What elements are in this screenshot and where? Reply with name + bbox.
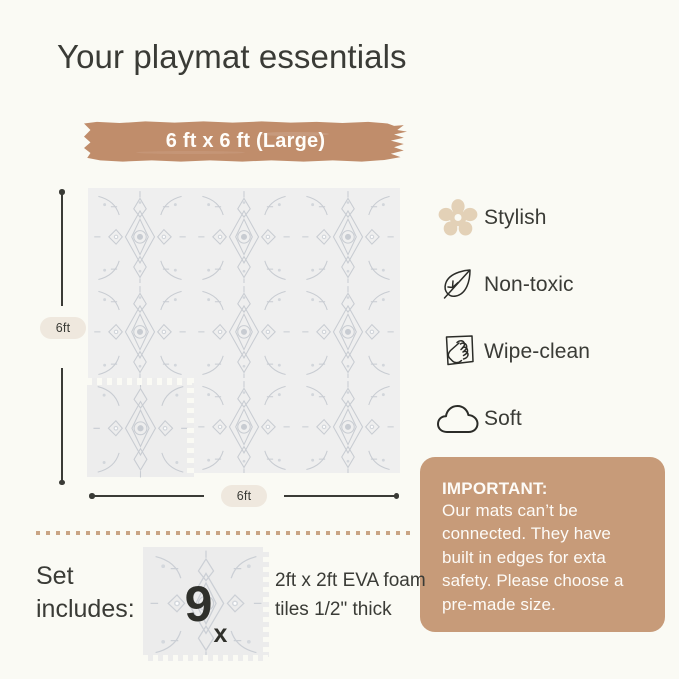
dimension-line-segment — [61, 192, 63, 306]
tile-quantity-number: 9 — [185, 579, 213, 629]
set-includes-tile-sample: 9 x — [143, 547, 269, 661]
playmat-tile — [192, 378, 296, 473]
tile-quantity-suffix: x — [213, 620, 227, 649]
playmat-tile — [296, 188, 400, 283]
set-includes-description: 2ft x 2ft EVA foam tiles 1/2" thick — [275, 566, 455, 625]
playmat-tile — [192, 283, 296, 378]
tile-pattern-icon — [87, 378, 194, 480]
tile-pattern-icon — [88, 283, 192, 378]
feature-label: Wipe-clean — [484, 340, 590, 364]
flower-icon — [432, 198, 484, 238]
playmat-tile — [296, 283, 400, 378]
playmat-tile — [296, 378, 400, 473]
tile-pattern-icon — [296, 188, 400, 283]
set-includes-label: Set includes: — [36, 560, 146, 626]
playmat-tile — [88, 188, 192, 283]
leaf-icon — [432, 265, 484, 305]
feature-list: Stylish Non-toxic Wipe-clean Soft — [432, 184, 672, 452]
horizontal-dimension-label: 6ft — [221, 485, 267, 507]
tile-pattern-icon — [296, 378, 400, 473]
dashed-divider — [36, 531, 410, 535]
tile-pattern-icon — [192, 283, 296, 378]
dimension-line-segment — [61, 368, 63, 482]
playmat-infographic: Your playmat essentials 6 ft x 6 ft (Lar… — [0, 0, 679, 679]
size-banner: 6 ft x 6 ft (Large) — [84, 121, 407, 162]
puzzle-teeth-top — [87, 378, 194, 385]
feature-label: Soft — [484, 407, 522, 431]
feature-item-stylish: Stylish — [432, 184, 672, 251]
size-banner-label: 6 ft x 6 ft (Large) — [84, 121, 407, 162]
tile-pattern-icon — [192, 188, 296, 283]
tile-quantity-overlay: 9 x — [143, 547, 269, 661]
dimension-line-segment — [92, 495, 204, 497]
important-body: Our mats can’t be connected. They have b… — [442, 499, 645, 616]
playmat-offset-tile — [87, 378, 194, 477]
important-callout-box: IMPORTANT: Our mats can’t be connected. … — [420, 457, 665, 632]
playmat-tile — [192, 188, 296, 283]
dimension-line-segment — [284, 495, 396, 497]
cloud-icon — [432, 402, 484, 436]
feature-item-soft: Soft — [432, 385, 672, 452]
playmat-tile — [88, 283, 192, 378]
tile-pattern-icon — [192, 378, 296, 473]
wipe-hand-icon — [432, 331, 484, 373]
vertical-dimension-line: 6ft — [61, 188, 63, 486]
feature-label: Stylish — [484, 206, 547, 230]
page-title: Your playmat essentials — [57, 38, 407, 76]
puzzle-teeth-right — [187, 378, 194, 477]
horizontal-dimension-line: 6ft — [88, 495, 400, 497]
feature-item-non-toxic: Non-toxic — [432, 251, 672, 318]
tile-pattern-icon — [296, 283, 400, 378]
feature-item-wipe-clean: Wipe-clean — [432, 318, 672, 385]
dimension-endpoint-dot — [394, 493, 400, 499]
feature-label: Non-toxic — [484, 273, 574, 297]
dimension-endpoint-dot — [59, 480, 65, 486]
playmat-diagram — [88, 188, 400, 486]
tile-pattern-icon — [88, 188, 192, 283]
vertical-dimension-label: 6ft — [40, 317, 86, 339]
important-heading: IMPORTANT: — [442, 479, 645, 499]
